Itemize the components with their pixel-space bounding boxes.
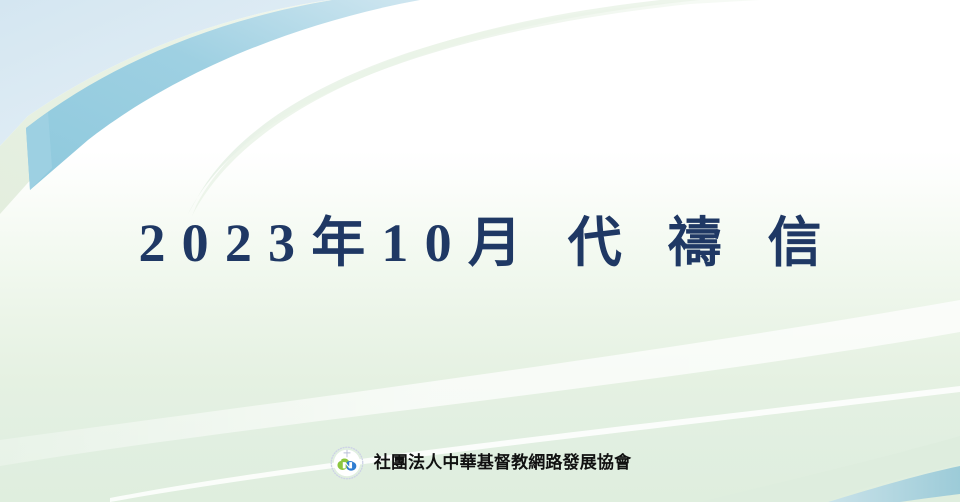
slide-canvas: 2023年10月 代 禱 信 社團法人中華基督教網路發展協會 xyxy=(0,0,960,502)
organization-name: 社團法人中華基督教網路發展協會 xyxy=(374,455,632,472)
page-title: 2023年10月 代 禱 信 xyxy=(122,216,838,270)
title-block: 2023年10月 代 禱 信 xyxy=(0,198,960,288)
org-logo-icon xyxy=(329,445,365,481)
organization-lockup: 社團法人中華基督教網路發展協會 xyxy=(0,441,960,485)
